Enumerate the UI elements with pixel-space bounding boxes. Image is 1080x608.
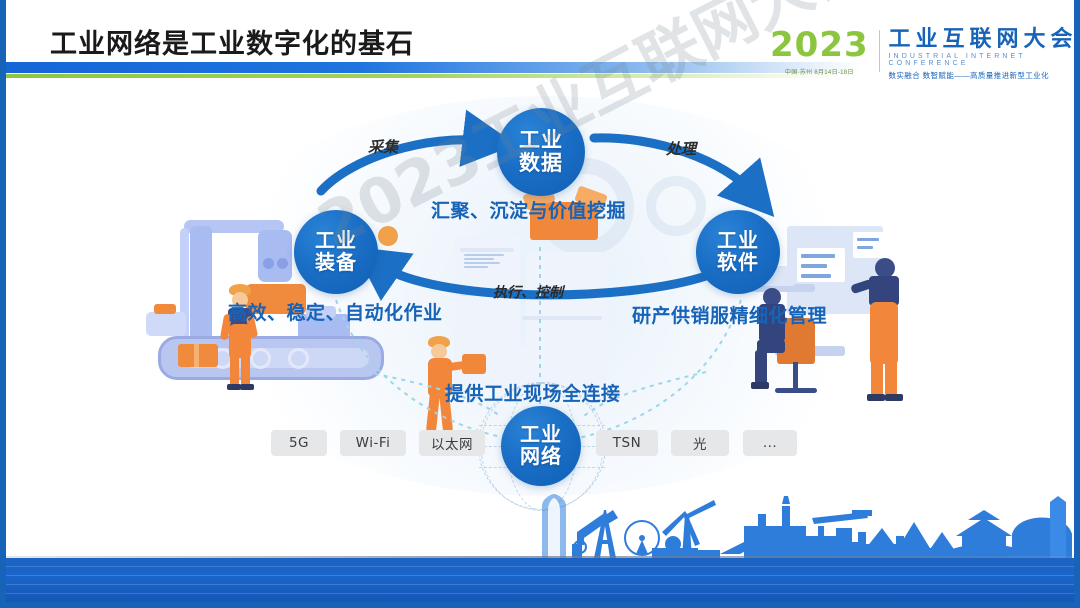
skyline-silhouette-right: [6, 492, 1074, 558]
node-label-line1: 工业: [315, 230, 357, 252]
logo-text-block: 工业互联网大会 INDUSTRIAL INTERNET CONFERENCE 数…: [889, 28, 1080, 81]
node-industrial-data[interactable]: 工业 数据: [497, 108, 585, 196]
caption-industrial-network: 提供工业现场全连接: [445, 379, 621, 406]
header-rule-blue: [0, 62, 860, 73]
node-label-line2: 软件: [717, 252, 759, 274]
diagram-canvas: 工业 数据 工业 装备 工业 软件 工业 网络 汇聚、沉淀与价值挖掘 高效、稳定…: [6, 86, 1074, 516]
header-rule-green: [0, 74, 840, 78]
network-tag-ethernet[interactable]: 以太网: [419, 430, 485, 456]
logo-year-block: 2023 中国·苏州 8月14日-18日: [770, 28, 869, 76]
caption-industrial-data: 汇聚、沉淀与价值挖掘: [431, 196, 626, 223]
network-tag-wifi[interactable]: Wi-Fi: [340, 430, 406, 456]
caption-industrial-software: 研产供销服精细化管理: [632, 301, 827, 328]
node-label-line2: 网络: [520, 446, 562, 468]
frame-border-right: [1074, 0, 1080, 608]
arrow-collect: [321, 140, 486, 191]
flow-label-process: 处理: [666, 138, 696, 159]
node-label-line2: 数据: [519, 152, 563, 175]
page-title: 工业网络是工业数字化的基石: [50, 22, 414, 61]
network-tag-5g[interactable]: 5G: [271, 430, 327, 456]
logo-slogan: 数实融合 数智赋能——高质量推进新型工业化: [889, 70, 1080, 81]
slide-root: 工业网络是工业数字化的基石 2023 中国·苏州 8月14日-18日 工业互联网…: [0, 0, 1080, 608]
node-label-line1: 工业: [520, 424, 562, 446]
logo-divider: [879, 30, 880, 72]
sea-band: [6, 558, 1074, 602]
network-tag-tsn[interactable]: TSN: [596, 430, 658, 456]
flow-label-collect: 采集: [368, 136, 398, 157]
node-industrial-software[interactable]: 工业 软件: [696, 210, 780, 294]
logo-name-en: INDUSTRIAL INTERNET CONFERENCE: [889, 53, 1080, 67]
conference-logo: 2023 中国·苏州 8月14日-18日 工业互联网大会 INDUSTRIAL …: [770, 28, 1080, 81]
frame-border-left: [0, 0, 6, 608]
node-industrial-equipment[interactable]: 工业 装备: [294, 210, 378, 294]
frame-border-bottom: [0, 602, 1080, 608]
logo-year: 2023: [770, 28, 869, 62]
network-tag-more[interactable]: ...: [743, 430, 797, 456]
logo-name-cn: 工业互联网大会: [889, 28, 1080, 51]
flow-label-execute: 执行、控制: [493, 282, 563, 302]
network-tag-optical[interactable]: 光: [671, 430, 729, 456]
node-industrial-network[interactable]: 工业 网络: [501, 406, 581, 486]
logo-date: 中国·苏州 8月14日-18日: [785, 67, 854, 76]
node-label-line2: 装备: [315, 252, 357, 274]
caption-industrial-equipment: 高效、稳定、自动化作业: [228, 298, 443, 325]
node-label-line1: 工业: [519, 129, 563, 152]
footer-skyline: [6, 492, 1074, 602]
node-label-line1: 工业: [717, 230, 759, 252]
